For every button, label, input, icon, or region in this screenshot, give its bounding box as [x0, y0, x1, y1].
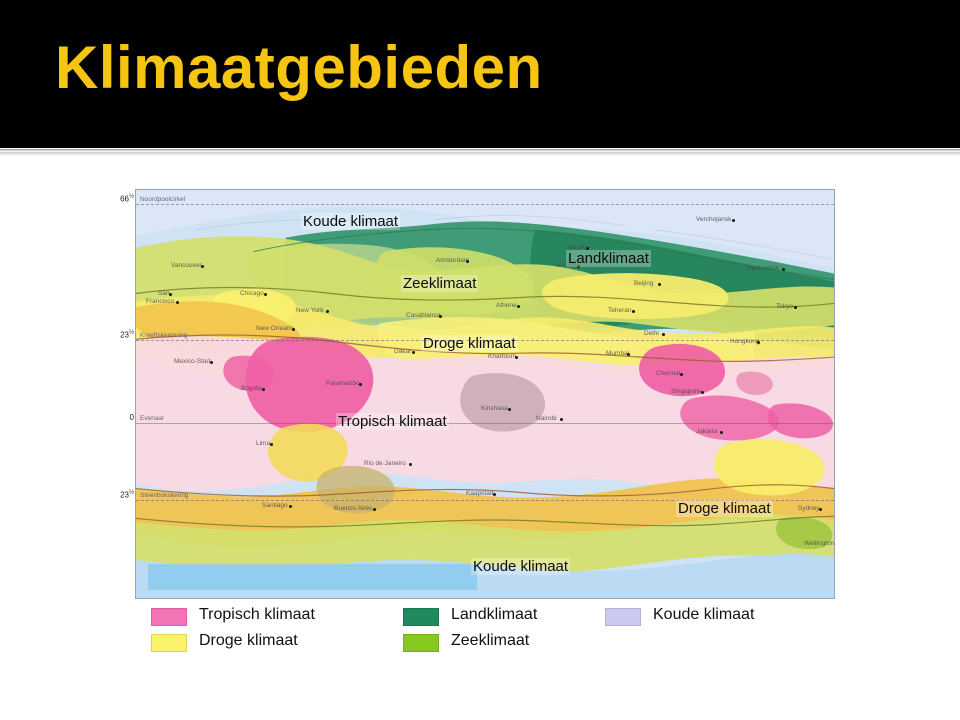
city-label: Sydney: [798, 505, 820, 512]
city-marker: [359, 383, 362, 386]
city-label: Verchojansk: [696, 216, 731, 223]
latitude-line-label: Noordpoolcirkel: [140, 196, 185, 203]
city-marker: [289, 505, 292, 508]
city-label: Teheran: [608, 307, 632, 314]
city-label: Kaapstad: [466, 490, 493, 497]
city-label: Rio de Janeiro: [364, 460, 406, 467]
city-marker: [680, 373, 683, 376]
city-label: Francisco: [146, 298, 174, 305]
latitude-label: 0: [120, 413, 134, 422]
city-marker: [560, 418, 563, 421]
city-marker: [819, 508, 822, 511]
title-banner: Klimaatgebieden: [0, 0, 960, 148]
legend-swatch: [403, 608, 439, 626]
city-label: Amsterdam: [436, 257, 469, 264]
legend-label: Zeeklimaat: [451, 632, 529, 650]
map-graphic: [136, 190, 834, 598]
city-label: San: [158, 290, 170, 297]
city-marker: [264, 293, 267, 296]
city-label: New Orleans: [256, 325, 294, 332]
climate-callout: Zeeklimaat: [401, 275, 478, 292]
city-label: Chicago: [240, 290, 264, 297]
legend-swatch: [403, 634, 439, 652]
city-label: Vancouver: [171, 262, 202, 269]
city-label: Khartoum: [488, 353, 516, 360]
city-marker: [701, 391, 704, 394]
city-marker: [493, 493, 496, 496]
city-marker: [658, 283, 661, 286]
climate-figure: 66½23½023½: [124, 180, 840, 670]
map-legend: Tropisch klimaatDroge klimaatLandklimaat…: [135, 604, 835, 666]
city-label: Bogota: [241, 385, 262, 392]
city-label: Beijing: [634, 280, 654, 287]
slide: Klimaatgebieden 66½23½023½: [0, 0, 960, 720]
city-marker: [757, 341, 760, 344]
city-label: Vladivostok: [746, 265, 779, 272]
climate-callout: Droge klimaat: [421, 335, 518, 352]
city-marker: [262, 388, 265, 391]
legend-swatch: [151, 608, 187, 626]
city-marker: [412, 351, 415, 354]
legend-swatch: [605, 608, 641, 626]
city-marker: [720, 431, 723, 434]
city-marker: [515, 356, 518, 359]
city-label: Hongkong: [730, 338, 760, 345]
climate-callout: Koude klimaat: [301, 213, 400, 230]
city-label: Singapore: [671, 388, 701, 395]
latitude-fraction: ½: [129, 194, 134, 200]
city-label: Casablanca: [406, 312, 440, 319]
city-label: New York: [296, 307, 323, 314]
legend-label: Droge klimaat: [199, 632, 298, 650]
latitude-label: 23½: [120, 330, 134, 340]
page-title: Klimaatgebieden: [55, 38, 543, 98]
city-marker: [201, 265, 204, 268]
city-marker: [632, 310, 635, 313]
city-marker: [326, 310, 329, 313]
city-label: Santiago: [262, 502, 288, 509]
latitude-fraction: ½: [129, 490, 134, 496]
city-label: Dakar: [394, 348, 411, 355]
city-label: Delhi: [644, 330, 659, 337]
city-marker: [517, 305, 520, 308]
city-marker: [627, 353, 630, 356]
climate-callout: Tropisch klimaat: [336, 413, 449, 430]
banner-divider-shadow: [0, 152, 960, 156]
latitude-line-label: Evenaar: [140, 415, 164, 422]
city-label: Nairobi: [536, 415, 557, 422]
latitude-fraction: ½: [129, 330, 134, 336]
world-climate-map: NoordpoolcirkelKreeftskeerkringEvenaarSt…: [135, 189, 835, 599]
city-label: Mumbai: [606, 350, 629, 357]
city-label: Jakarta: [696, 428, 717, 435]
city-label: Mexico-Stad: [174, 358, 210, 365]
latitude-line-label: Steenbokskering: [140, 492, 188, 499]
climate-callout: Droge klimaat: [676, 500, 773, 517]
latitude-label: 66½: [120, 194, 134, 204]
legend-label: Koude klimaat: [653, 606, 754, 624]
latitude-label: 23½: [120, 490, 134, 500]
city-label: Athene: [496, 302, 517, 309]
climate-callout: Landklimaat: [566, 250, 651, 267]
city-marker: [794, 306, 797, 309]
latitude-line: [136, 204, 834, 205]
legend-swatch: [151, 634, 187, 652]
city-label: Paramaribo: [326, 380, 360, 387]
climate-callout: Koude klimaat: [471, 558, 570, 575]
city-marker: [508, 408, 511, 411]
city-label: Kinshasa: [481, 405, 508, 412]
city-label: Buenos Aires: [334, 505, 372, 512]
city-label: Tokyo: [776, 303, 793, 310]
city-marker: [662, 333, 665, 336]
city-label: Chennai: [656, 370, 680, 377]
city-marker: [466, 260, 469, 263]
legend-label: Landklimaat: [451, 606, 537, 624]
city-label: Wellington: [804, 540, 834, 547]
city-label: Lima: [256, 440, 270, 447]
latitude-line-label: Kreeftskeerkring: [140, 332, 187, 339]
legend-label: Tropisch klimaat: [199, 606, 315, 624]
city-marker: [439, 315, 442, 318]
city-marker: [176, 301, 179, 304]
map-canvas: [136, 190, 834, 598]
latitude-line: [136, 423, 834, 424]
